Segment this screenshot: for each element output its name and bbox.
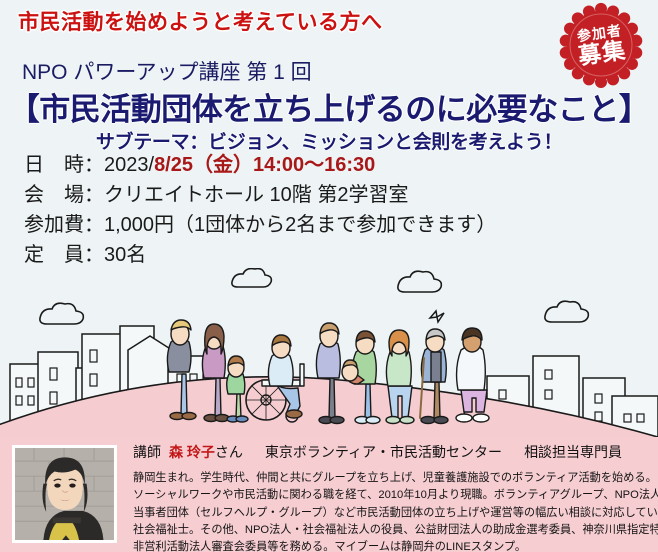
lecturer-suffix: さん: [215, 444, 243, 460]
bio-line: 当事者団体（セルフヘルプ・グループ）など市民活動団体の立ち上げや運営等の幅広い相…: [133, 505, 651, 522]
detail-value-capacity: 30名: [104, 244, 146, 266]
detail-row-capacity: 定 員：30名: [24, 245, 496, 265]
detail-row-date: 日 時：2023/8/25（金）14:00〜16:30: [24, 155, 496, 175]
lecturer-bio: 静岡生まれ。学生時代、仲間と共にグループを立ち上げ、児童養護施設でのボランティア…: [133, 470, 651, 552]
lecturer-name: 森 玲子: [169, 444, 215, 460]
detail-label-capacity: 定 員：: [24, 245, 104, 265]
lecturer-credit-line: 講師森 玲子さん東京ボランティア・市民活動センター相談担当専門員: [133, 442, 622, 462]
lecturer-photo: [12, 445, 117, 543]
lecturer-footer: 講師森 玲子さん東京ボランティア・市民活動センター相談担当専門員 静岡生まれ。学…: [0, 437, 658, 552]
detail-value-date-plain: 2023/: [104, 154, 154, 176]
detail-value-fee: 1,000円（1団体から2名まで参加できます）: [104, 214, 496, 236]
bio-line: 非営利活動法人審査会委員等を務める。マイブームは静岡弁のLINEスタンプ。: [133, 539, 651, 552]
bio-line: 社会福祉士。その他、NPO法人・社会福祉法人の役員、公益財団法人の助成金選考委員…: [133, 522, 651, 539]
detail-label-date: 日 時：: [24, 155, 104, 175]
detail-row-fee: 参加費：1,000円（1団体から2名まで参加できます）: [24, 215, 496, 235]
community-illustration: [0, 268, 658, 443]
bio-line: ソーシャルワークや市民活動に関わる職を経て、2010年10月より現職。ボランティ…: [133, 487, 651, 504]
detail-label-fee: 参加費：: [24, 215, 104, 235]
bio-line: 静岡生まれ。学生時代、仲間と共にグループを立ち上げ、児童養護施設でのボランティア…: [133, 470, 651, 487]
lecturer-label: 講師: [133, 444, 161, 460]
detail-value-date-accent: 8/25（金）14:00〜16:30: [154, 154, 375, 176]
poster-root: 市民活動を始めようと考えている方へ 参加者: [0, 0, 658, 552]
seal-line-2: 募集: [577, 38, 628, 67]
kicker-headline: 市民活動を始めようと考えている方へ: [18, 6, 382, 36]
lecturer-organization: 東京ボランティア・市民活動センター: [265, 444, 502, 460]
detail-label-venue: 会 場：: [24, 185, 104, 205]
detail-row-venue: 会 場：クリエイトホール 10階 第2学習室: [24, 185, 496, 205]
lecturer-role: 相談担当専門員: [524, 444, 622, 460]
main-title: 【市民活動団体を立ち上げるのに必要なこと】: [0, 84, 658, 129]
participants-wanted-seal: 参加者 募集: [558, 2, 644, 88]
subtitle: サブテーマ：ビジョン、ミッションと会則を考えよう！: [0, 127, 658, 154]
detail-value-venue: クリエイトホール 10階 第2学習室: [104, 184, 408, 206]
event-details: 日 時：2023/8/25（金）14:00〜16:30 会 場：クリエイトホール…: [24, 155, 496, 275]
course-series-line: NPO パワーアップ講座 第 1 回: [22, 56, 312, 86]
